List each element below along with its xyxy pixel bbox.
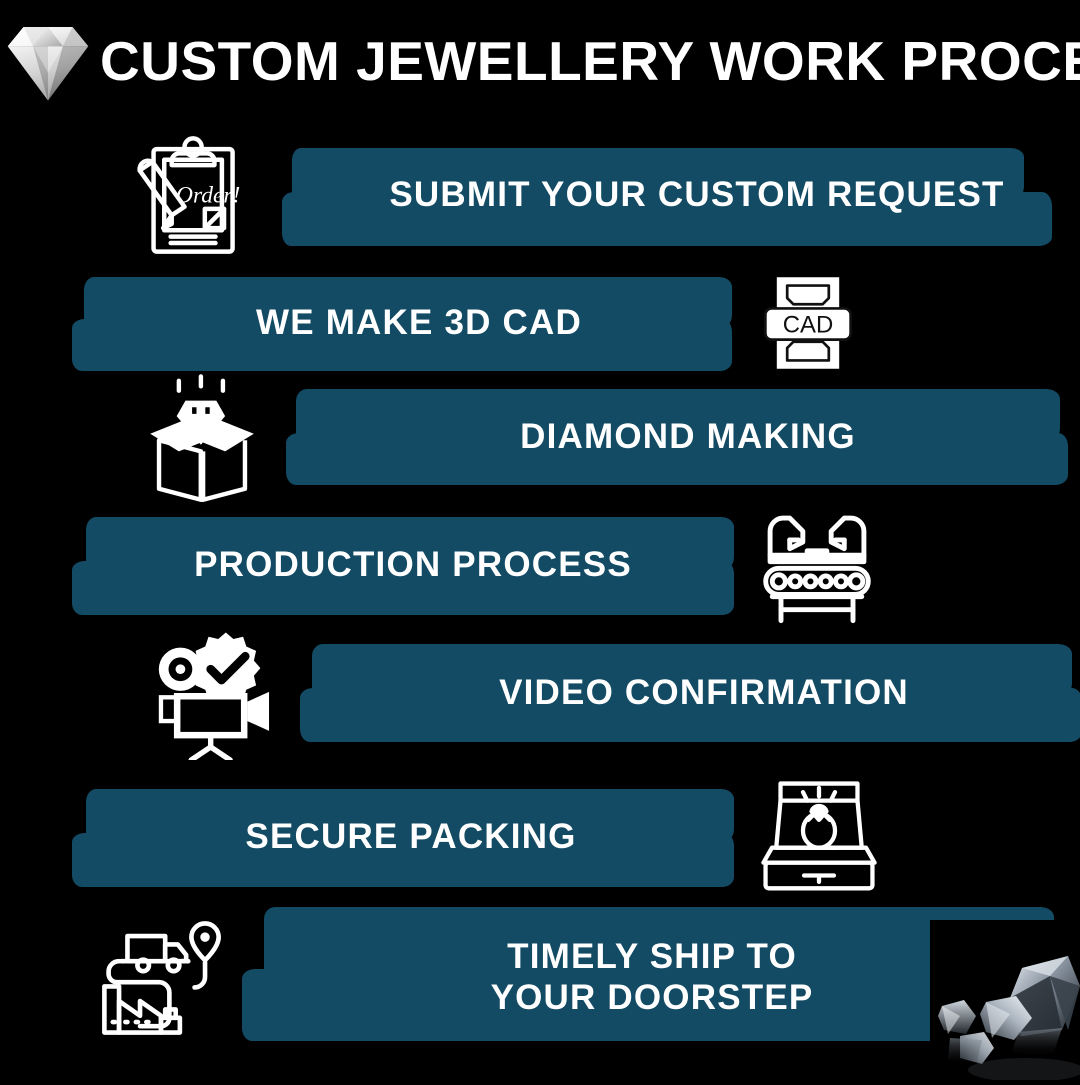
cad-printer-text: CAD [783, 311, 833, 338]
step-row-4: PRODUCTION PROCESS [72, 500, 1080, 630]
step-banner-6[interactable]: SECURE PACKING [72, 783, 744, 891]
page-title: CUSTOM JEWELLERY WORK PROCESS [100, 29, 1080, 93]
step-banner-1[interactable]: SUBMIT YOUR CUSTOM REQUEST [292, 140, 1052, 250]
step-row-1: Order! SUBMIT YOUR CUSTOM REQUEST [122, 130, 1080, 260]
diamond-gem-icon [2, 20, 94, 104]
robotic-conveyor-icon [754, 502, 880, 628]
step-banner-4[interactable]: PRODUCTION PROCESS [72, 511, 744, 619]
clipboard-order-icon: Order! [122, 130, 262, 260]
step-label-6: SECURE PACKING [231, 817, 590, 858]
step-row-6: SECURE PACKING [72, 772, 1080, 902]
delivery-route-icon [96, 913, 226, 1043]
cad-printer-icon: CAD [748, 263, 868, 383]
step-banner-5[interactable]: VIDEO CONFIRMATION [300, 638, 1080, 748]
step-row-5: VIDEO CONFIRMATION [150, 628, 1080, 758]
step-label-5: VIDEO CONFIRMATION [485, 673, 923, 714]
step-row-3: DIAMOND MAKING [140, 372, 1080, 502]
step-label-1: SUBMIT YOUR CUSTOM REQUEST [375, 175, 1018, 216]
diamond-box-icon [140, 374, 264, 500]
video-camera-check-icon [150, 626, 280, 760]
step-banner-7[interactable]: TIMELY SHIP TO YOUR DOORSTEP [242, 903, 1062, 1053]
ring-box-icon [756, 777, 882, 897]
step-label-7: TIMELY SHIP TO YOUR DOORSTEP [477, 937, 828, 1018]
step-banner-3[interactable]: DIAMOND MAKING [286, 383, 1076, 491]
page-header: CUSTOM JEWELLERY WORK PROCESS [0, 0, 1080, 120]
step-label-4: PRODUCTION PROCESS [180, 545, 646, 586]
step-banner-2[interactable]: WE MAKE 3D CAD [72, 271, 740, 375]
step-row-7: TIMELY SHIP TO YOUR DOORSTEP [96, 898, 1080, 1058]
step-label-2: WE MAKE 3D CAD [242, 303, 596, 344]
clipboard-order-text: Order! [176, 182, 240, 208]
step-row-2: WE MAKE 3D CAD CAD [72, 258, 1080, 388]
step-label-3: DIAMOND MAKING [506, 417, 870, 458]
